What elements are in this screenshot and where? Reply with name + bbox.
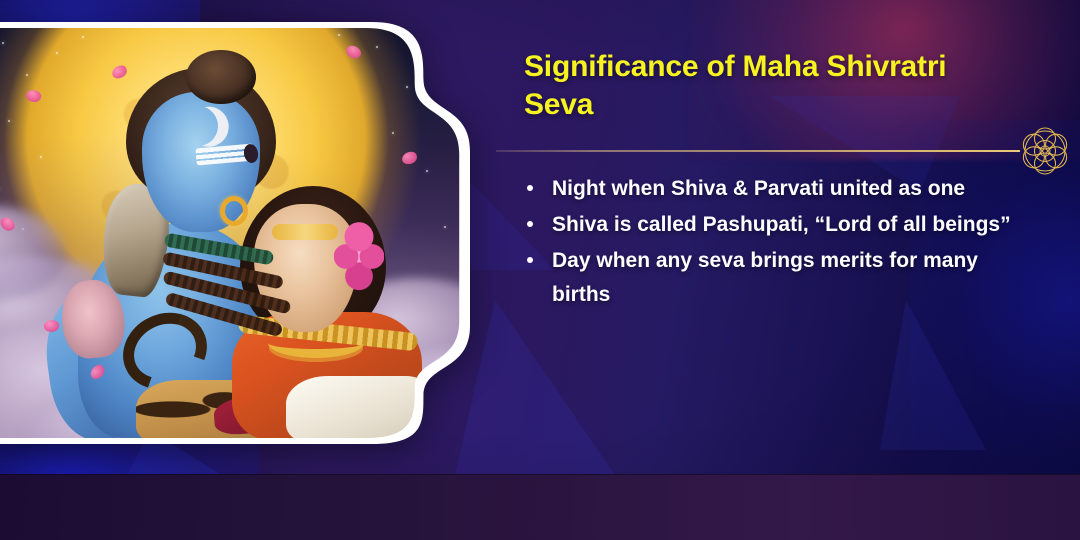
- lotus-hair-flower: [334, 220, 384, 296]
- shiva-jata-bun: [186, 50, 256, 104]
- bullet-dot-icon: [527, 185, 533, 191]
- content-column: Significance of Maha Shivratri Seva: [496, 0, 1080, 474]
- parvati-necklace: [268, 328, 364, 358]
- list-item: Night when Shiva & Parvati united as one: [520, 172, 1028, 206]
- title-divider: [496, 150, 1020, 152]
- list-item: Day when any seva brings merits for many…: [520, 244, 1028, 312]
- slide-canvas: Significance of Maha Shivratri Seva: [0, 0, 1080, 540]
- hero-image: [0, 28, 464, 438]
- list-item-label: Night when Shiva & Parvati united as one: [552, 177, 965, 200]
- hero-image-panel: [0, 22, 470, 444]
- list-item: Shiva is called Pashupati, “Lord of all …: [520, 208, 1028, 242]
- parvati-headpiece: [272, 224, 338, 240]
- bullet-list: Night when Shiva & Parvati united as one…: [520, 172, 1028, 314]
- shiva-earring: [220, 196, 248, 226]
- page-title: Significance of Maha Shivratri Seva: [524, 48, 994, 123]
- footer-band: ✻✻✻✻✻✻✻✻✻✻✻✻✻✻✻✻✻✻✻✻✻✻✻✻✻✻✻✻✻: [0, 474, 1080, 540]
- bullet-dot-icon: [527, 257, 533, 263]
- bullet-dot-icon: [527, 221, 533, 227]
- list-item-label: Day when any seva brings merits for many…: [552, 249, 978, 306]
- list-item-label: Shiva is called Pashupati, “Lord of all …: [552, 213, 1011, 236]
